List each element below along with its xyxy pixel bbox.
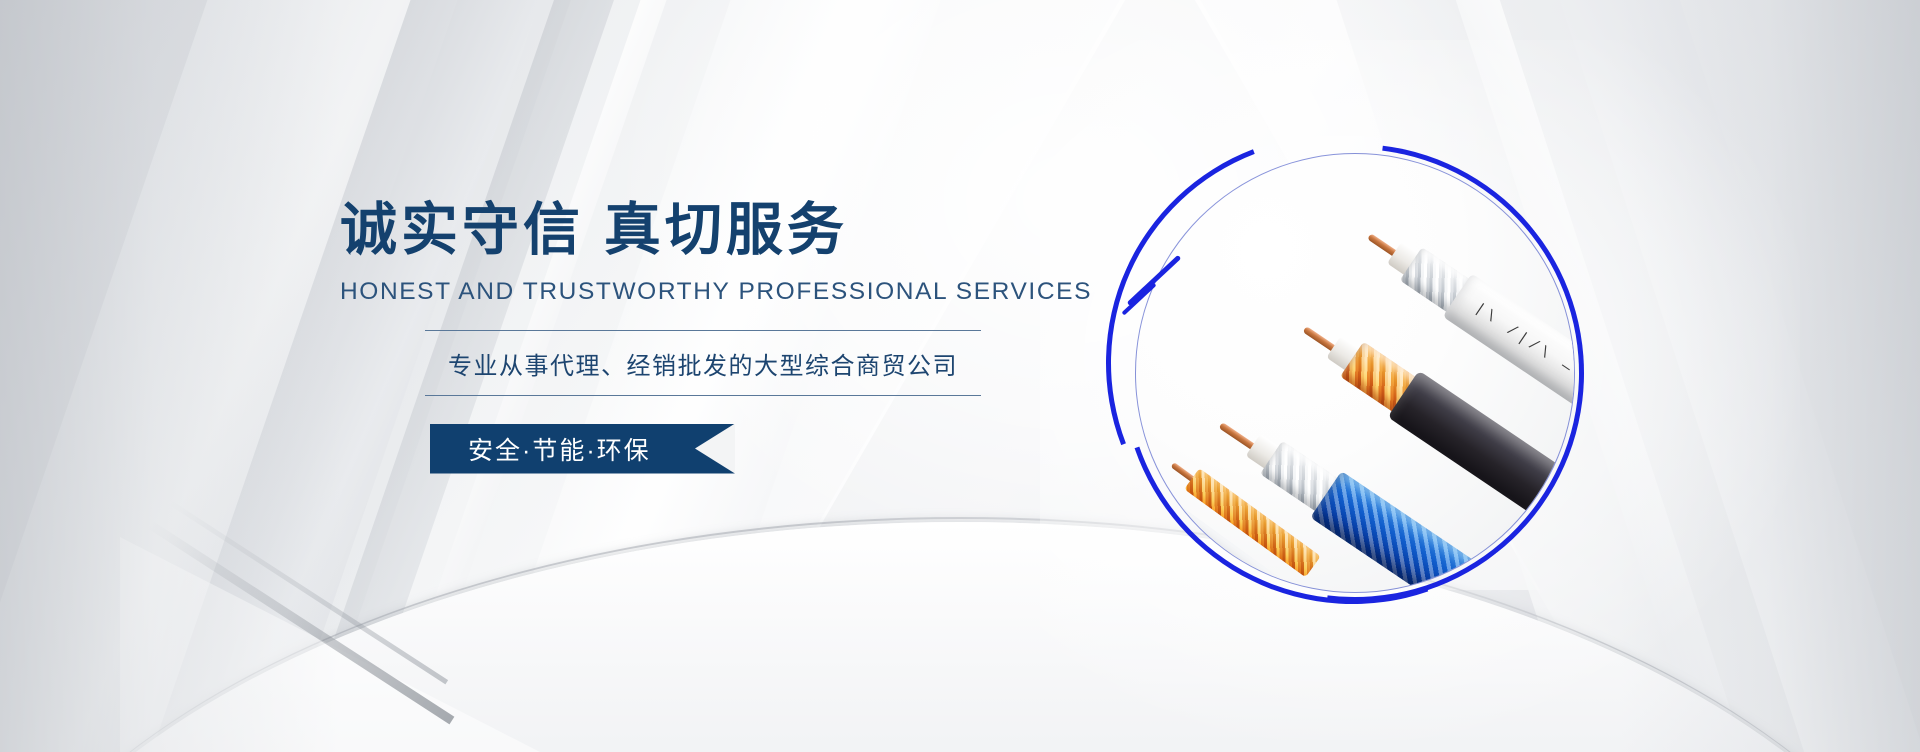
ribbon-label: 安全·节能·环保 <box>430 431 651 467</box>
background-left-shade <box>0 0 340 752</box>
description-text: 专业从事代理、经销批发的大型综合商贸公司 <box>425 346 981 381</box>
background-diagonal-shadow-2 <box>169 500 448 684</box>
circle-outline-bottom-icon <box>1044 64 1662 682</box>
description-block: 专业从事代理、经销批发的大型综合商贸公司 <box>425 330 981 396</box>
banner-copy: 诚实守信 真切服务 HONEST AND TRUSTWORTHY PROFESS… <box>425 200 1045 474</box>
product-media: |\ /|/\ — \ //\ <box>1120 140 1590 610</box>
background-floor <box>0 522 1920 752</box>
background-right-shade <box>1620 0 1920 752</box>
background-floor-wedge <box>120 537 540 752</box>
feature-ribbon-badge: 安全·节能·环保 <box>430 424 735 474</box>
background-floor-highlight <box>0 517 1920 752</box>
page-title: 诚实守信 真切服务 <box>340 200 1045 262</box>
background-diagonal-shadow <box>148 521 455 725</box>
hero-banner: 诚实守信 真切服务 HONEST AND TRUSTWORTHY PROFESS… <box>0 0 1920 752</box>
page-subtitle: HONEST AND TRUSTWORTHY PROFESSIONAL SERV… <box>340 278 1045 306</box>
